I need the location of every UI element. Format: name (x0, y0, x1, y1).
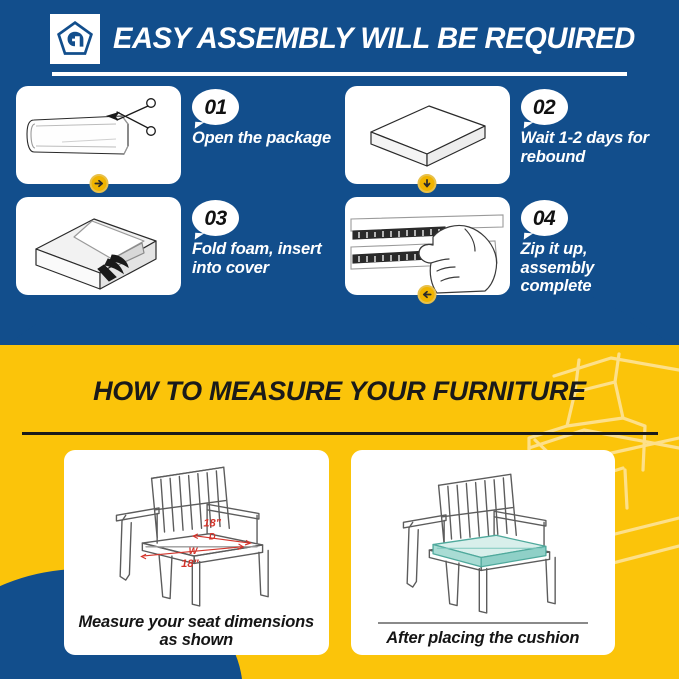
measure-panel: After placing the cushion (351, 450, 616, 655)
assembly-section: EASY ASSEMBLY WILL BE REQUIRED (0, 0, 679, 345)
step-arrow-badge (418, 174, 437, 193)
panel-divider (378, 622, 588, 624)
dimension-width-symbol: W (189, 546, 199, 556)
step-text: 02 Wait 1-2 days for rebound (510, 86, 664, 166)
arrow-left-icon (422, 289, 433, 300)
steps-grid: 01 Open the package (0, 86, 679, 296)
step-text: 01 Open the package (181, 86, 335, 148)
step-arrow-badge (418, 285, 437, 304)
measure-section-title: HOW TO MEASURE YOUR FURNITURE (0, 378, 679, 405)
panel-illustration: 18" D W 18" (74, 457, 319, 607)
foam-inserted-into-cover-icon (16, 197, 181, 295)
measure-panels: 18" D W 18" Measure your seat dimensions… (0, 450, 679, 655)
step-illustration-card (345, 86, 510, 184)
dimension-depth-value: 18" (204, 517, 222, 529)
chair-with-dimension-callouts-icon: 18" D W 18" (85, 457, 307, 607)
step-arrow-badge (89, 174, 108, 193)
measure-panel: 18" D W 18" Measure your seat dimensions… (64, 450, 329, 655)
step-number-badge: 01 (192, 89, 239, 125)
page-title: EASY ASSEMBLY WILL BE REQUIRED (113, 24, 635, 54)
rolled-package-with-scissors-icon (16, 86, 181, 184)
step-text: 04 Zip it up, assembly complete (510, 197, 664, 296)
step-label: Open the package (192, 129, 335, 148)
step-illustration-card (16, 86, 181, 184)
step-item: 04 Zip it up, assembly complete (345, 197, 664, 296)
arrow-right-icon (93, 178, 104, 189)
step-number-badge: 03 (192, 200, 239, 236)
step-number: 01 (204, 97, 226, 118)
panel-illustration (361, 457, 606, 621)
step-item: 03 Fold foam, insert into cover (16, 197, 335, 296)
step-text: 03 Fold foam, insert into cover (181, 197, 335, 277)
header-underline (52, 72, 627, 76)
step-item: 02 Wait 1-2 days for rebound (345, 86, 664, 184)
step-number-badge: 04 (521, 200, 568, 236)
panel-caption: Measure your seat dimensions as shown (74, 613, 319, 650)
dimension-depth-symbol: D (209, 531, 216, 541)
step-number: 03 (204, 208, 226, 229)
step-label: Wait 1-2 days for rebound (521, 129, 664, 166)
step-illustration-card (16, 197, 181, 295)
step-number: 02 (533, 97, 555, 118)
step-number-badge: 02 (521, 89, 568, 125)
measure-title-underline (22, 432, 658, 435)
arrow-down-icon (422, 178, 433, 189)
step-item: 01 Open the package (16, 86, 335, 184)
header: EASY ASSEMBLY WILL BE REQUIRED (0, 0, 679, 78)
step-label: Fold foam, insert into cover (192, 240, 335, 277)
step-label: Zip it up, assembly complete (521, 240, 664, 296)
step-number: 04 (533, 208, 555, 229)
dimension-width-value: 18" (181, 558, 199, 570)
brand-logo (50, 14, 100, 64)
panel-caption: After placing the cushion (386, 629, 579, 647)
flat-foam-cushion-icon (345, 86, 510, 184)
step-illustration-card (345, 197, 510, 295)
infographic-poster: EASY ASSEMBLY WILL BE REQUIRED (0, 0, 679, 679)
chair-with-cushion-icon (372, 464, 594, 614)
hand-closing-zipper-icon (345, 197, 510, 295)
house-pentagon-logo-icon (55, 19, 95, 59)
